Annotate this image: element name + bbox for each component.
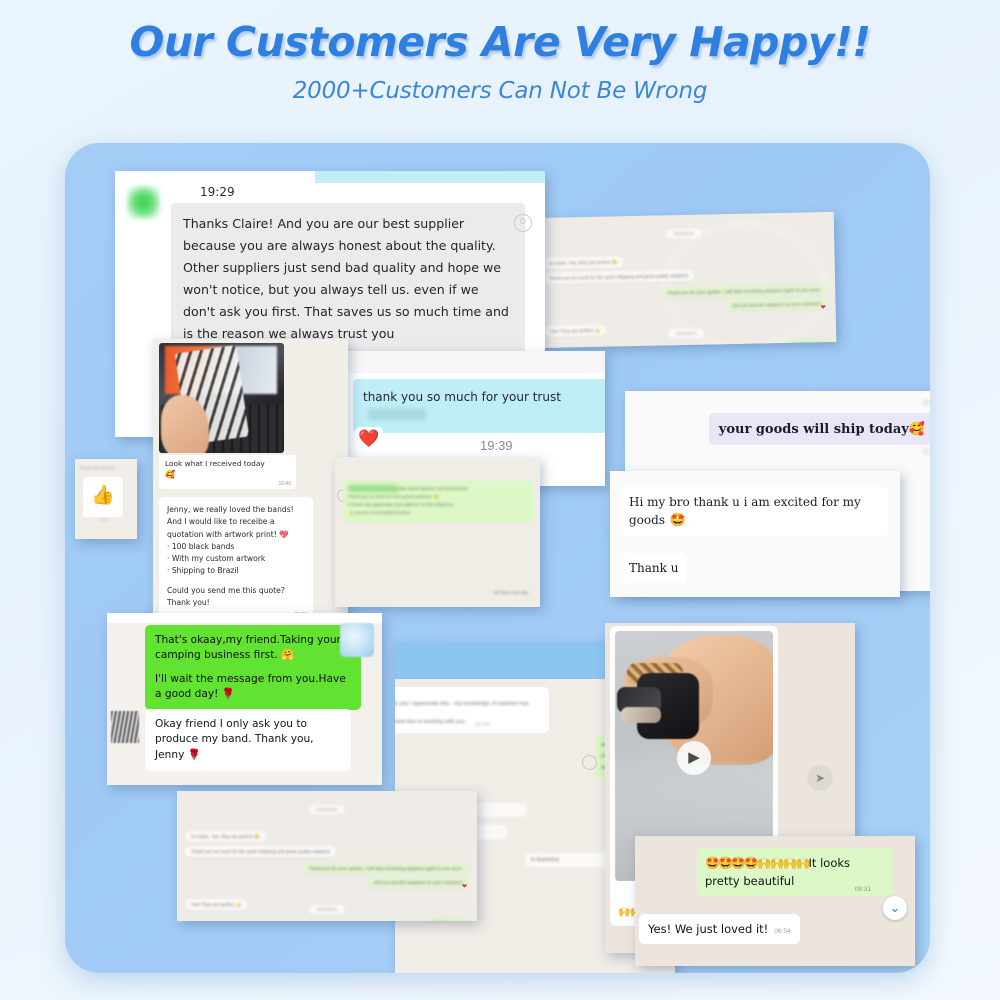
message-text: Thank u — [629, 561, 678, 575]
message-bubble-bright-green: That's okaay,my friend.Taking your campi… — [145, 625, 361, 710]
redaction-mask — [349, 485, 397, 492]
message-text: Okay friend I only ask you to produce my… — [155, 717, 341, 763]
emoji: 🥰 — [909, 421, 925, 436]
screenshot-adapters-chat-top[interactable]: 2024/05/22 Hi Claire. Yes, they are perf… — [534, 212, 837, 348]
page-header: Our Customers Are Very Happy!! 2000+Cust… — [0, 0, 1000, 104]
date-badge: 2024/08/10 — [310, 905, 345, 914]
timestamp: 06:54 — [774, 928, 790, 935]
read-receipt: 已读 — [923, 398, 930, 407]
message-text: I'll wait the message from you.Have a go… — [155, 672, 351, 702]
message-line: 👍 you are a very patient person. — [348, 509, 528, 517]
message-bubble-incoming: Yes! We just loved it!06:54 — [639, 914, 800, 944]
timestamp-1939: 19:39 — [480, 438, 513, 453]
date-badge: 2024/08/10 — [669, 329, 704, 339]
photo-timestamp: 10:40 — [278, 481, 291, 487]
emoji-run: 🤩🤩🤩🤩🙌🙌🙌🙌 — [705, 856, 809, 870]
read-receipt: 已读 — [923, 447, 930, 456]
page-title: Our Customers Are Very Happy!! — [0, 18, 1000, 66]
message-bubble-incoming: Okay friend I only ask you to produce my… — [145, 709, 351, 771]
quote-line: Thank you! — [167, 597, 305, 609]
testimonial-board-inner: 2024/05/22 Hi Claire. Yes, they are perf… — [65, 143, 930, 973]
spacer — [155, 663, 351, 672]
message-out: Ok that is great — [426, 917, 469, 921]
timestamp: 08:31 — [855, 886, 871, 893]
received-bands-photo[interactable] — [159, 343, 284, 453]
quote-line: And I would like to receibe a — [167, 516, 305, 528]
footer-message: Ok have nice day — [493, 590, 528, 595]
chat-top-strip — [107, 613, 382, 623]
quote-line: Jenny, we really loved the bands! — [167, 504, 305, 516]
quote-request-bubble: Jenny, we really loved the bands! And I … — [159, 497, 313, 621]
forward-arrow-icon[interactable]: ➤ — [807, 765, 833, 791]
message-text: Hi my bro thank u i am excited for my go… — [629, 495, 861, 527]
message-in: Thank you so much for the quick shipping… — [185, 846, 336, 857]
emoji: 🤩 — [669, 512, 685, 527]
quote-line: quotation with artwork print! 💖 — [167, 529, 305, 541]
avatar-placeholder-icon — [582, 755, 597, 770]
mini-chat: 2024/05/22 Hi Claire. Yes, they are perf… — [534, 212, 837, 348]
photo-caption-emoji: 🥰 — [165, 470, 290, 479]
play-button-icon[interactable]: ▶ — [677, 741, 711, 775]
heart-icon: ❤ — [821, 304, 826, 311]
message-text: Thank you I appreciate this - my knowled… — [395, 701, 529, 725]
avatar — [111, 711, 139, 743]
avatar — [127, 186, 160, 219]
screenshot-thumbs-up[interactable]: Yes you are very kin 👍 20:03 — [75, 459, 137, 539]
message-line: m heart very appreciate your patience on… — [348, 501, 528, 509]
message-text: Thanks Claire! And you are our best supp… — [183, 216, 509, 341]
smiley-face-icon[interactable]: ☺ — [514, 214, 532, 232]
screenshot-knowledgeable-chat[interactable]: Hi you are very knowledgeable about watc… — [335, 457, 540, 607]
quote-line: · With my custom artwork — [167, 553, 305, 565]
message-bubble-incoming: Thank u — [620, 553, 687, 583]
message-in: Yes! They are perfect 👍 — [185, 899, 247, 910]
message-text: That's okaay,my friend.Taking your campi… — [155, 633, 351, 663]
mini-chat: 2024/05/22 Hi Claire. Yes, they are perf… — [177, 791, 477, 921]
screenshot-looks-beautiful[interactable]: 🤩🤩🤩🤩🙌🙌🙌🙌It looks pretty beautiful 08:31 … — [635, 836, 915, 966]
message-bubble-lavender: your goods will ship today🥰 — [709, 413, 930, 445]
message-out: Did you test the adapters on your machin… — [727, 298, 828, 311]
message-text: Yes you are very kin — [79, 465, 115, 470]
screenshot-hi-bro[interactable]: Hi my bro thank u i am excited for my go… — [610, 471, 900, 597]
chat-header-strip — [315, 171, 545, 183]
message-bubble-incoming: Thank you I appreciate this - my knowled… — [395, 687, 549, 733]
quote-line: Could you send me this quote? — [167, 585, 305, 597]
quote-line: · 100 black bands — [167, 541, 305, 553]
timestamp: 20:03 — [99, 517, 109, 522]
light-band — [621, 707, 661, 723]
testimonial-board: 2024/05/22 Hi Claire. Yes, they are perf… — [65, 143, 930, 973]
thumbs-up-icon: 👍 — [83, 477, 123, 517]
photo-caption-text: Look what I received today — [165, 459, 290, 468]
message-bubble-incoming: Hi my bro thank u i am excited for my go… — [620, 487, 888, 536]
sticker-icon — [340, 623, 374, 657]
screenshot-camping-green[interactable]: That's okaay,my friend.Taking your campi… — [107, 613, 382, 785]
screenshot-adapters-chat-bottom[interactable]: 2024/05/22 Hi Claire. Yes, they are perf… — [177, 791, 477, 921]
photo-caption-bubble: Look what I received today 🥰 10:40 — [159, 455, 296, 489]
heart-reaction-icon: ❤️ — [355, 427, 383, 451]
message-out: Ok that is great — [785, 338, 828, 348]
message-text: Yes! We just loved it! — [648, 922, 768, 936]
message-bubble-cyan: thank you so much for your trust — [353, 379, 605, 433]
quote-line: · Shipping to Brazil — [167, 565, 305, 577]
timestamp: 18:54 — [474, 722, 489, 728]
date-badge: 2024/05/22 — [666, 229, 701, 239]
page-subtitle: 2000+Customers Can Not Be Wrong — [0, 78, 1000, 104]
message-bubble-outgoing: 🤩🤩🤩🤩🙌🙌🙌🙌It looks pretty beautiful 08:31 — [697, 848, 893, 896]
message-text: your goods will ship today — [719, 422, 909, 437]
message-line: Thank you so much on such good comment. … — [348, 493, 528, 501]
message-in: Yes! They are perfect 👍 — [544, 325, 607, 337]
redaction-mask — [368, 409, 426, 420]
message-out: Did you test the adapters on your machin… — [368, 877, 469, 888]
chevron-down-icon[interactable]: ⌄ — [883, 896, 907, 920]
date-badge: 2024/05/22 — [310, 805, 345, 814]
quote-spacer — [167, 578, 305, 585]
message-timestamp: 19:29 — [200, 185, 235, 199]
heart-icon: ❤ — [462, 883, 467, 890]
message-text: thank you so much for your trust — [363, 390, 561, 404]
